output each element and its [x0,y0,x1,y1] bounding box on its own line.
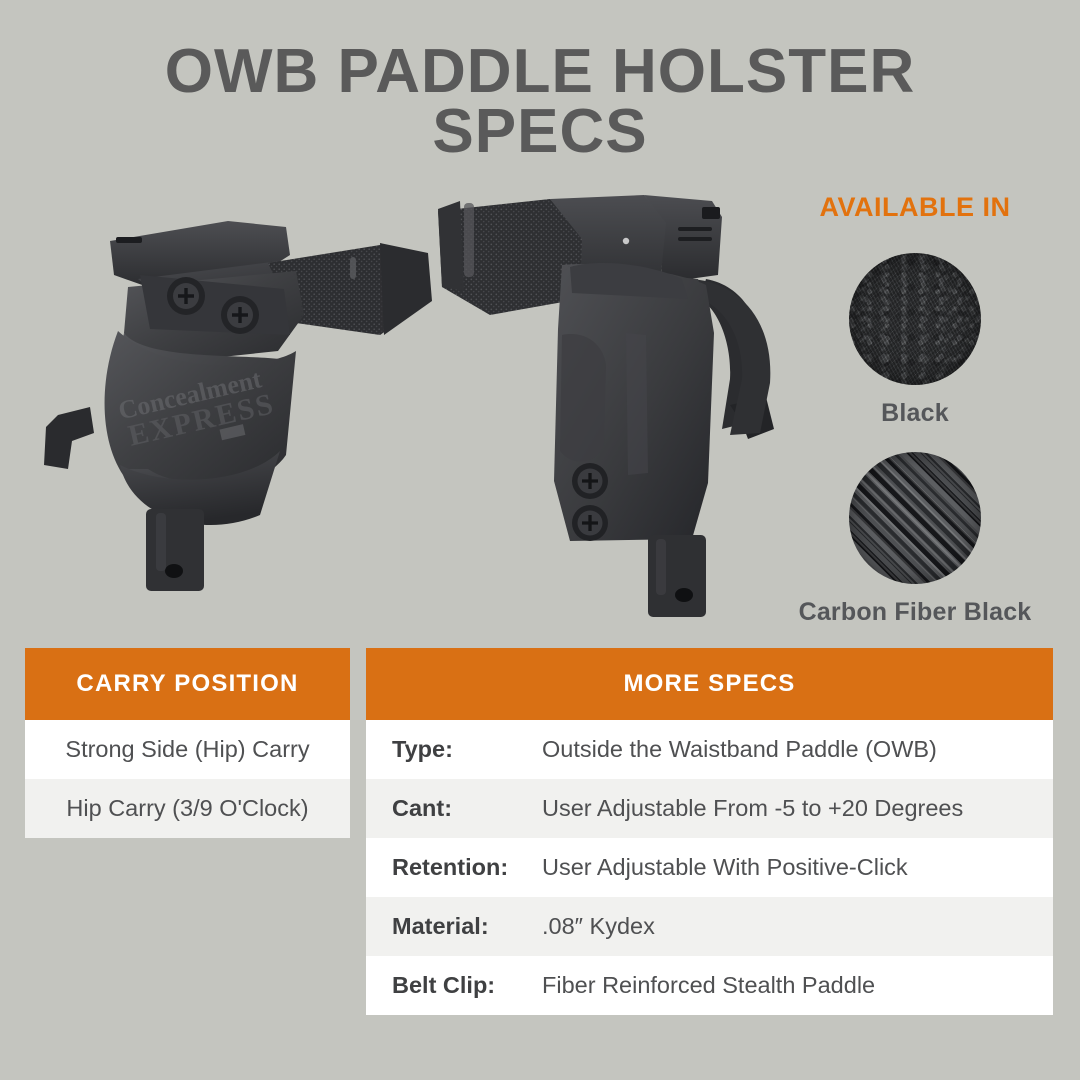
swatch-item-black[interactable]: Black [760,253,1070,428]
screw-upper [572,463,608,499]
table-row: Cant:User Adjustable From -5 to +20 Degr… [366,779,1053,838]
page-title-line2: SPECS [0,102,1080,162]
spec-value: User Adjustable With Positive-Click [542,854,908,880]
available-in-heading: AVAILABLE IN [760,192,1070,223]
table-row: Hip Carry (3/9 O'Clock) [25,779,350,838]
screw-lower [221,296,259,334]
carry-position-value: Strong Side (Hip) Carry [65,736,309,762]
table-row: Strong Side (Hip) Carry [25,720,350,779]
table-row: Type:Outside the Waistband Paddle (OWB) [366,720,1053,779]
page-title: OWB PADDLE HOLSTER SPECS [0,42,1080,162]
black-swatch-icon[interactable] [849,253,981,385]
spec-label: Cant: [392,779,542,838]
screw-upper [167,277,205,315]
swatch-item-carbon-fiber-black[interactable]: Carbon Fiber Black [760,452,1070,627]
available-in-section: AVAILABLE IN [760,192,1070,223]
spec-value: Fiber Reinforced Stealth Paddle [542,972,875,998]
holster-front-illustration: Concealment EXPRESS [28,183,448,633]
carry-position-value: Hip Carry (3/9 O'Clock) [66,795,308,821]
screw-lower [572,505,608,541]
table-row: Material:.08″ Kydex [366,897,1053,956]
more-specs-table: MORE SPECS Type:Outside the Waistband Pa… [366,648,1053,1015]
swatch-label-carbon-fiber-black: Carbon Fiber Black [760,598,1070,627]
swatch-label-black: Black [760,399,1070,428]
spec-label: Type: [392,720,542,779]
spec-label: Material: [392,897,542,956]
spec-value: User Adjustable From -5 to +20 Degrees [542,795,963,821]
holster-front-paddle-view: Concealment EXPRESS [28,183,448,633]
table-row: Retention:User Adjustable With Positive-… [366,838,1053,897]
table-row: Belt Clip:Fiber Reinforced Stealth Paddl… [366,956,1053,1015]
spec-label: Retention: [392,838,542,897]
more-specs-header: MORE SPECS [366,648,1053,720]
product-photo-group: Concealment EXPRESS [0,175,800,635]
spec-value: Outside the Waistband Paddle (OWB) [542,736,937,762]
page-title-line1: OWB PADDLE HOLSTER [165,37,916,106]
carry-position-table: CARRY POSITION Strong Side (Hip) Carry H… [25,648,350,838]
spec-value: .08″ Kydex [542,913,655,939]
carry-position-header: CARRY POSITION [25,648,350,720]
carbon-fiber-swatch-icon[interactable] [849,452,981,584]
spec-label: Belt Clip: [392,956,542,1015]
